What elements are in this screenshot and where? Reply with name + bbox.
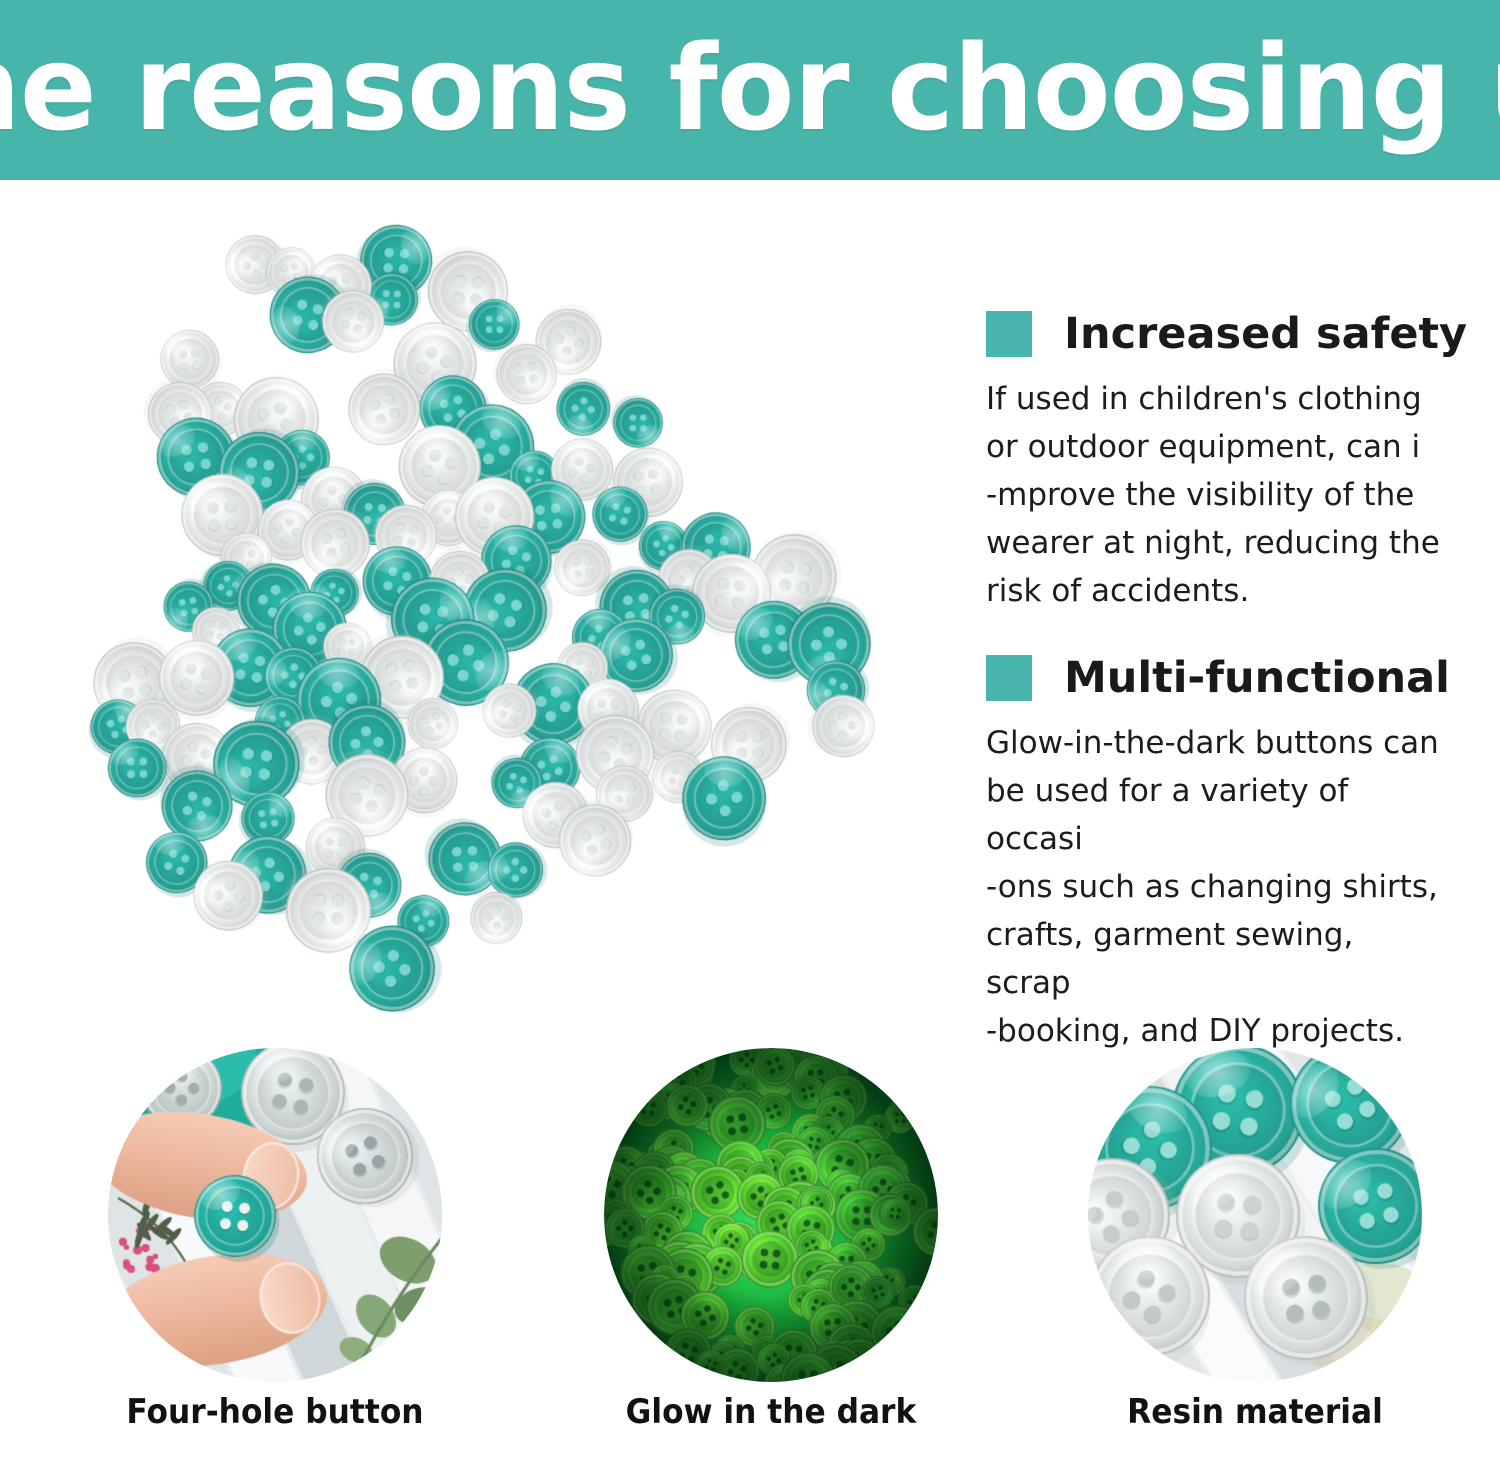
feature-line: risk of accidents. [986,567,1441,615]
infographic-page: The reasons for choosing us Increased sa… [0,0,1500,1460]
header-banner: The reasons for choosing us [0,0,1500,180]
thumbnail-row: Four-hole button Glow in the dark Resin … [0,1040,1500,1460]
thumbnail-caption: Resin material [1101,1392,1408,1432]
feature-line: If used in children's clothing [986,375,1441,423]
page-title: The reasons for choosing us [0,29,1500,147]
feature-header: Multi-functional [986,649,1456,707]
feature-body: If used in children's clothing or outdoo… [986,375,1441,615]
thumbnail-four-hole-button [108,1048,442,1382]
glowing-green-buttons-photo [604,1048,938,1382]
square-bullet-icon [986,311,1032,357]
resin-buttons-closeup-photo [1088,1048,1422,1382]
feature-line: -ons such as changing shirts, [986,863,1441,911]
thumbnail-image [1088,1048,1422,1382]
square-bullet-icon [986,655,1032,701]
thumbnail-caption: Glow in the dark [617,1392,924,1432]
feature-increased-safety: Increased safety If used in children's c… [986,305,1456,615]
thumbnail-resin-material [1088,1048,1422,1382]
fingers-holding-teal-button-photo [108,1048,442,1382]
feature-line: wearer at night, reducing the [986,519,1441,567]
feature-line: Glow-in-the-dark buttons can [986,719,1441,767]
thumbnail-image [108,1048,442,1382]
thumbnail-glow-in-the-dark [604,1048,938,1382]
feature-body: Glow-in-the-dark buttons can be used for… [986,719,1441,1055]
feature-list: Increased safety If used in children's c… [986,305,1456,1089]
button-pile-canvas [10,200,910,1050]
button-pile-photo [10,200,910,1050]
feature-line: or outdoor equipment, can i [986,423,1441,471]
feature-multi-functional: Multi-functional Glow-in-the-dark button… [986,649,1456,1055]
thumbnail-caption: Four-hole button [121,1392,428,1432]
feature-line: -mprove the visibility of the [986,471,1441,519]
feature-title: Increased safety [1064,313,1467,356]
feature-line: be used for a variety of occasi [986,767,1441,863]
feature-title: Multi-functional [1064,657,1450,700]
feature-line: crafts, garment sewing, scrap [986,911,1441,1007]
thumbnail-image [604,1048,938,1382]
feature-header: Increased safety [986,305,1456,363]
